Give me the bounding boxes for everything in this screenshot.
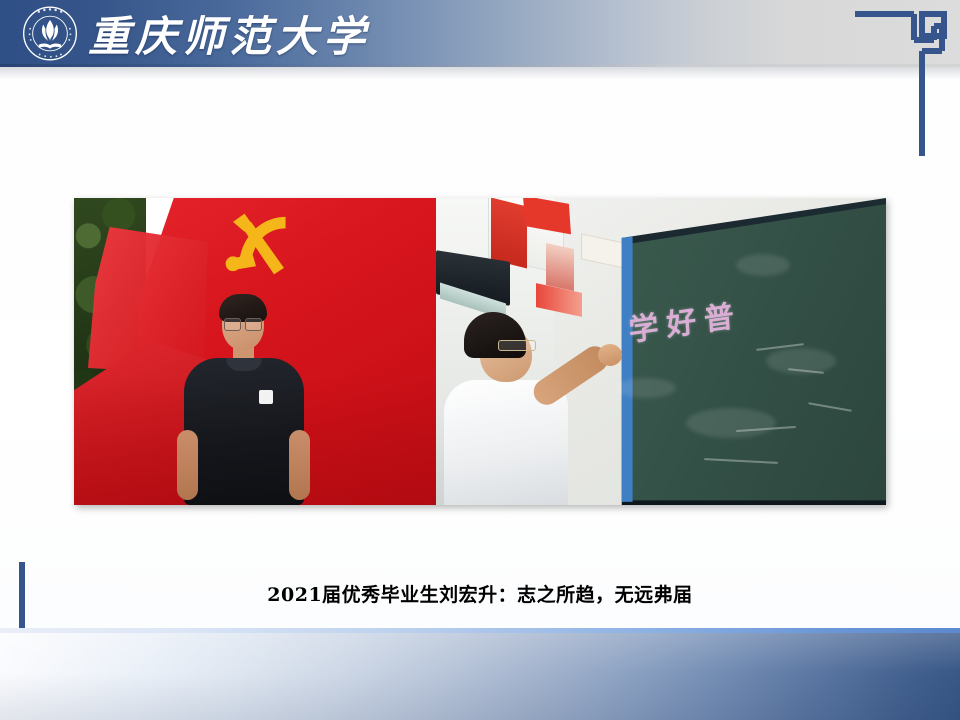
- writer-hand-with-chalk: [598, 344, 622, 366]
- student-in-front-of-party-emblem-photo: [74, 198, 436, 505]
- university-seal-icon: [22, 5, 78, 62]
- writer-glasses: [498, 340, 536, 351]
- student-black-tshirt: [184, 358, 304, 505]
- presentation-slide: 重庆师范大学: [0, 0, 960, 720]
- student-left-arm: [177, 430, 198, 500]
- chalk-smudge: [616, 378, 676, 398]
- student-right-arm: [289, 430, 310, 500]
- university-name-title: 重庆师范大学: [88, 3, 370, 63]
- hammer-and-sickle-icon: [214, 212, 298, 290]
- chalk-smudge: [686, 408, 776, 438]
- chalk-smudge: [736, 254, 790, 276]
- tshirt-brand-logo: [259, 390, 273, 404]
- wall-poster-1: [546, 243, 574, 291]
- graduate-photo-strip: 学好普: [74, 198, 886, 505]
- wall-banner-red: [491, 198, 527, 268]
- slide-footer-band: [0, 633, 960, 720]
- slide-caption: 2021届优秀毕业生刘宏升：志之所趋，无远弗届: [0, 580, 960, 607]
- student-glasses: [224, 318, 262, 329]
- student-writing-on-chalkboard-photo: 学好普: [436, 198, 886, 505]
- chinese-meander-corner-ornament-top-right: [852, 6, 952, 158]
- header-drop-shadow: [0, 67, 960, 79]
